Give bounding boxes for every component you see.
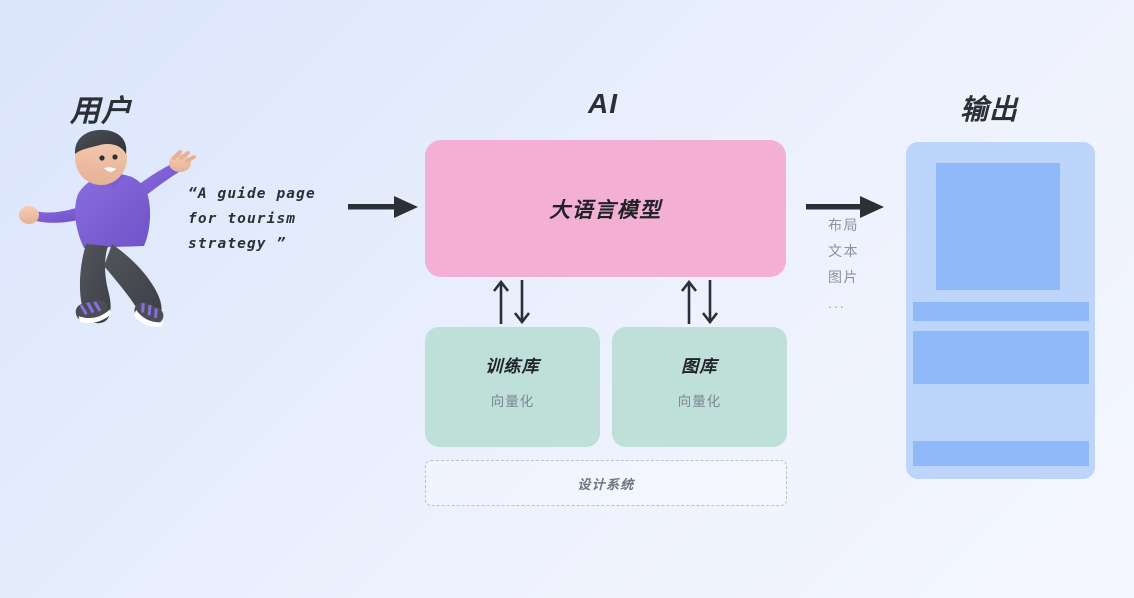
llm-label: 大语言模型 (549, 194, 662, 224)
design-system-label: 设计系统 (577, 474, 634, 493)
output-keyword-ellipsis: ... (828, 296, 859, 310)
output-page-mockup[interactable] (906, 142, 1095, 479)
library-subtitle: 向量化 (491, 390, 535, 410)
library-card-training[interactable]: 训练库 向量化 (425, 327, 600, 447)
library-subtitle: 向量化 (678, 390, 722, 410)
design-system-card[interactable]: 设计系统 (425, 460, 787, 506)
section-title-ai: AI (588, 88, 618, 120)
mockup-content-block (913, 331, 1089, 384)
output-keyword: 图片 (828, 270, 859, 284)
section-title-output: 输出 (960, 88, 1018, 128)
output-keyword-list: 布局 文本 图片 ... (828, 218, 859, 310)
user-prompt-text: “A guide page for tourism strategy ” (188, 182, 338, 257)
llm-card[interactable]: 大语言模型 (425, 140, 786, 277)
library-title: 图库 (681, 352, 717, 377)
output-keyword: 文本 (828, 244, 859, 258)
diagram-canvas: 用户 AI 输出 (0, 0, 1134, 598)
library-card-image[interactable]: 图库 向量化 (612, 327, 787, 447)
mockup-footer-bar (913, 441, 1089, 466)
library-title: 训练库 (485, 352, 540, 377)
mockup-text-bar (913, 302, 1089, 321)
bidirectional-arrows-icon (489, 277, 535, 327)
section-title-user: 用户 (70, 86, 132, 130)
mockup-hero-image (936, 163, 1060, 290)
arrow-right-icon (348, 194, 420, 220)
person-3d-illustration (16, 128, 206, 353)
output-keyword: 布局 (828, 218, 859, 232)
bidirectional-arrows-icon (677, 277, 723, 327)
